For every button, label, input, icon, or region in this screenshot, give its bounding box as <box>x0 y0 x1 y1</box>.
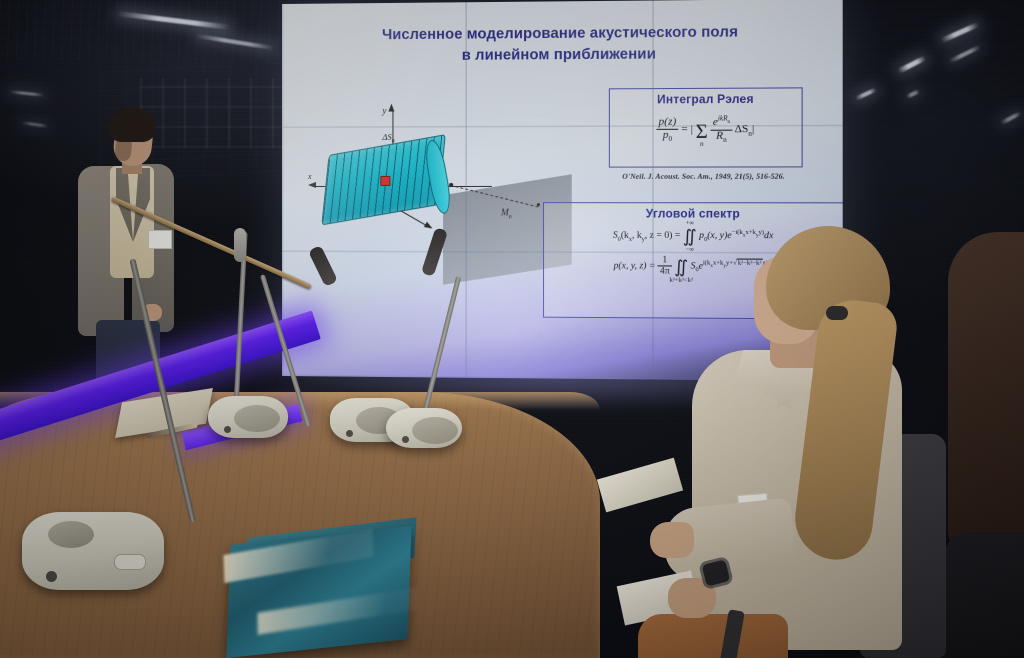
mic-base <box>22 512 164 590</box>
mic-talk-button[interactable] <box>255 416 277 427</box>
slide-title-line-2: в линейном приближении <box>282 43 843 68</box>
mic-base <box>208 396 288 438</box>
mic-talk-button[interactable] <box>429 426 451 437</box>
slide-title: Численное моделирование акустического по… <box>282 21 843 68</box>
presentation-photo-scene: МЕГ ИМПУЛЬС Численное моделирование акус… <box>0 0 1024 658</box>
origin-marker <box>449 183 453 187</box>
rayleigh-citation: O'Neil. J. Acoust. Soc. Am., 1949, 21(5)… <box>586 172 821 181</box>
y-axis-arrow-icon <box>388 104 394 112</box>
mic-port <box>402 436 409 443</box>
x-axis-label: x <box>308 172 312 181</box>
teal-glossy-booklet <box>227 526 412 658</box>
z-axis-arrow-icon <box>400 210 431 228</box>
presenter-hair <box>108 108 156 142</box>
rayleigh-formula: p(z) p0 = | Σn eikRn Rn ΔSn| <box>610 115 802 144</box>
source-element-marker <box>380 176 390 186</box>
mic-port <box>346 430 353 437</box>
brown-suede-bag <box>638 614 788 658</box>
hair-tie <box>826 306 848 320</box>
delta-s-label: ΔSn <box>382 132 394 145</box>
rayleigh-box-title: Интеграл Рэлея <box>610 94 802 107</box>
presenter-name-badge <box>148 230 172 249</box>
mic-port <box>46 571 57 582</box>
attendee-blonde <box>620 222 980 658</box>
field-point-label: Mn <box>501 207 512 220</box>
mic-capsule <box>234 228 246 262</box>
x-axis-arrow-icon <box>308 182 316 188</box>
mic-talk-button[interactable] <box>114 554 146 570</box>
attendee-front-hand-upper <box>650 522 694 558</box>
rayleigh-integral-box: Интеграл Рэлея p(z) p0 = | Σn eikRn Rn Δ… <box>609 87 803 167</box>
y-axis-label: y <box>382 106 386 116</box>
mic-port <box>224 426 231 433</box>
mic-base <box>386 408 462 448</box>
